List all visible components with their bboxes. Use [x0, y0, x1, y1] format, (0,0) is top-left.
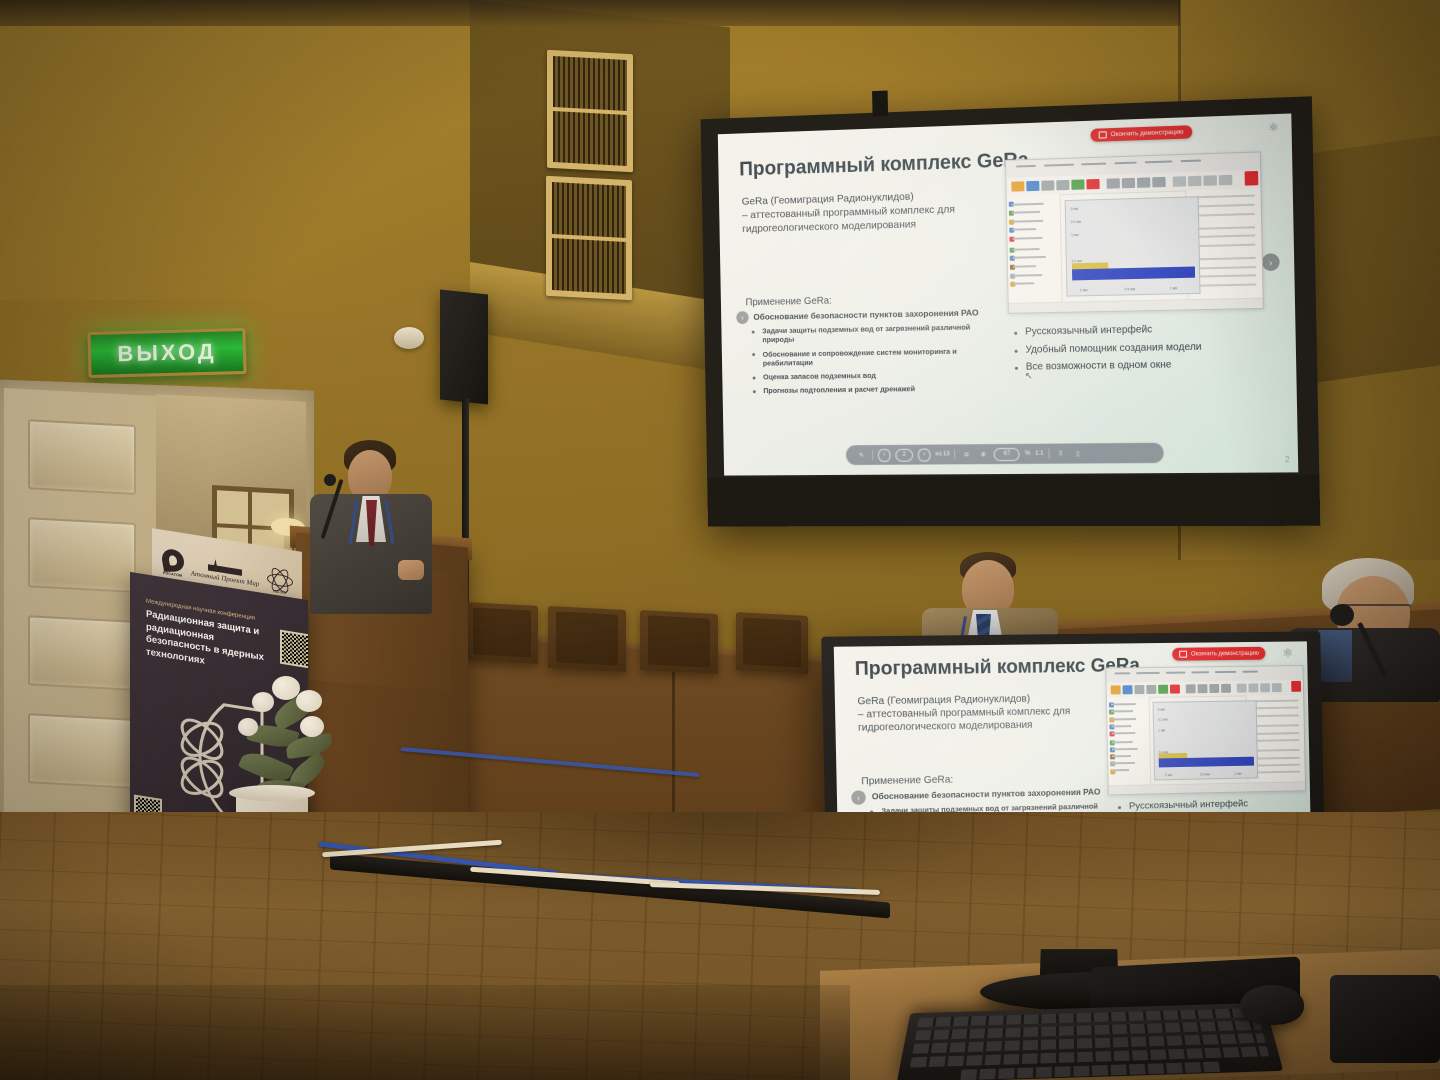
pen-icon[interactable]: ✎ [856, 452, 868, 459]
zoom-unit-label: % [1025, 451, 1030, 457]
axis-label: 0.2 мм [1158, 718, 1168, 722]
page-total-label: из 13 [935, 451, 949, 457]
next-page-button[interactable]: › [918, 448, 931, 461]
slide-bullets-right: Русскоязычный интерфейс Удобный помощник… [1012, 322, 1267, 379]
axis-label: 0 мм [1080, 288, 1088, 292]
end-presentation-badge[interactable]: Окончить демонстрацию [1090, 125, 1191, 142]
axis-label: 0.2 мм [1071, 220, 1081, 224]
page-number-input[interactable]: 2 [895, 448, 913, 461]
bullet-item: Задачи защиты подземных вод от загрязнен… [750, 322, 993, 345]
exit-sign-label: ВЫХОД [117, 339, 217, 368]
slide-subtitle: GeRa (Геомиграция Радионуклидов) – аттес… [742, 189, 956, 236]
end-presentation-label: Окончить демонстрацию [1191, 650, 1259, 657]
rosatom-logo-icon: РОСАТОМ [162, 548, 184, 577]
app-close-button[interactable] [1245, 171, 1258, 185]
ventilation-grille-lower [546, 176, 632, 301]
projection-screen: Программный комплекс GeRa GeRa (Геомигра… [701, 96, 1321, 526]
axis-label: 0.5 мм [1125, 287, 1136, 291]
slide-section-label: Применение GeRa: [861, 774, 953, 787]
fit-ratio-label[interactable]: 1:1 [1035, 451, 1043, 457]
geological-cross-section [1071, 234, 1195, 281]
screen-bottom-casing [707, 474, 1320, 526]
qr-code-top[interactable] [280, 630, 308, 669]
pa-speaker [440, 289, 488, 404]
ibrae-logo-icon: ⚛ [1282, 645, 1294, 661]
zoom-value-input[interactable]: 67 [994, 447, 1020, 460]
ibrae-logo-icon: ⚛ [1268, 120, 1279, 135]
projected-slide: Программный комплекс GeRa GeRa (Геомигра… [718, 113, 1298, 475]
slide-bullets-heading: Обоснование безопасности пунктов захорон… [753, 307, 978, 321]
gera-app-screenshot: 0 мм 0.2 мм 1 мм 0.4 мм 0.2 мм 0 мм 0.5 … [1105, 665, 1306, 795]
axis-label: 0 мм [1070, 206, 1078, 210]
computer-keyboard[interactable] [897, 1003, 1284, 1080]
slide-subtitle-line-3: гидрогеологического моделирования [858, 718, 1071, 735]
slide-bullets-left: Задачи защиты подземных вод от загрязнен… [750, 322, 994, 400]
projection-surface: Программный комплекс GeRa GeRa (Геомигра… [718, 113, 1298, 475]
bullet-item: Русскоязычный интерфейс [1012, 322, 1266, 339]
slide-page-number: 2 [1285, 455, 1290, 464]
end-presentation-badge[interactable]: Окончить демонстрацию [1172, 647, 1266, 661]
exit-sign: ВЫХОД [87, 328, 246, 378]
chair[interactable] [736, 612, 808, 674]
bullet-item: Обоснование и сопровождение систем монит… [750, 346, 993, 368]
app-model-tree [1007, 194, 1062, 304]
upper-left-wall [0, 0, 520, 300]
bullet-item: Все возможности в одном окне [1013, 358, 1267, 374]
slide-subtitle: GeRa (Геомиграция Радионуклидов) – аттес… [857, 692, 1070, 735]
prev-page-button[interactable]: ‹ [878, 448, 891, 461]
app-model-tree [1107, 697, 1151, 787]
right-desk-device [1330, 975, 1440, 1063]
panel-icon[interactable]: ▯ [1072, 450, 1084, 457]
app-model-canvas: 0 мм 0.2 мм 1 мм 0.4 мм 0.2 мм [1064, 196, 1200, 296]
axis-label: 1 мм [1235, 772, 1242, 776]
chair[interactable] [640, 610, 718, 674]
slide-title: Программный комплекс GeRa [739, 149, 1029, 181]
app-close-button[interactable] [1291, 681, 1301, 692]
slide-section-label: Применение GeRa: [745, 296, 831, 309]
gera-app-screenshot: 0 мм 0.2 мм 1 мм 0.4 мм 0.2 мм [1005, 151, 1264, 313]
attendee-right-shirt [1318, 630, 1352, 682]
app-model-canvas: 0 мм 0.2 мм 1 мм 0.4 мм 0.2 мм 0 мм 0.5 … [1153, 700, 1259, 781]
slide-title: Программный комплекс GeRa [855, 655, 1141, 681]
computer-mouse[interactable] [1240, 985, 1304, 1025]
speaker-hand [398, 560, 424, 580]
screen-share-icon [1099, 131, 1107, 138]
end-presentation-label: Окончить демонстрацию [1111, 129, 1184, 139]
ventilation-grille-upper [547, 50, 633, 173]
conference-hall-photo: ВЫХОД Программный комплекс GeRa GeRa (Ге… [0, 0, 1440, 1080]
zoom-in-icon[interactable]: ⊕ [977, 451, 989, 458]
bullet-item: Оценка запасов подземных вод [751, 369, 994, 382]
chair[interactable] [548, 606, 626, 672]
mouse-cursor-icon: ↖ [1025, 371, 1033, 382]
slide-bullets-heading: Обоснование безопасности пунктов захорон… [872, 787, 1101, 802]
axis-label: 0.5 мм [1200, 772, 1210, 776]
zoom-out-icon[interactable]: ⊖ [960, 451, 972, 458]
screen-share-icon [1179, 651, 1187, 658]
screen-mount [872, 90, 888, 116]
geological-cross-section [1158, 730, 1254, 767]
ibrae-atom-logo-icon: ИБРАЭ [266, 564, 292, 594]
smoke-detector-icon [394, 327, 424, 349]
bullet-item: Русскоязычный интерфейс [1116, 797, 1312, 813]
chair[interactable] [466, 602, 538, 664]
slide-next-button[interactable]: › [1262, 253, 1280, 271]
pdf-viewer-toolbar[interactable]: ✎ ‹ 2 › из 13 ⊖ ⊕ 67 % 1:1 ⠿ ▯ [846, 443, 1164, 465]
banner-title-ru: Радиационная защита и радиационная безоп… [146, 608, 276, 679]
axis-label: 0 мм [1158, 707, 1165, 711]
grid-icon[interactable]: ⠿ [1055, 450, 1067, 457]
bullet-item: Удобный помощник создания модели [1012, 340, 1266, 357]
slide-prev-button[interactable]: ‹ [736, 311, 749, 324]
axis-label: 0 мм [1165, 773, 1172, 777]
axis-label: 1 мм [1170, 286, 1178, 290]
bullet-item: Прогнозы подтопления и расчет дренажей [751, 383, 994, 395]
slide-prev-button[interactable]: ‹ [851, 790, 866, 804]
